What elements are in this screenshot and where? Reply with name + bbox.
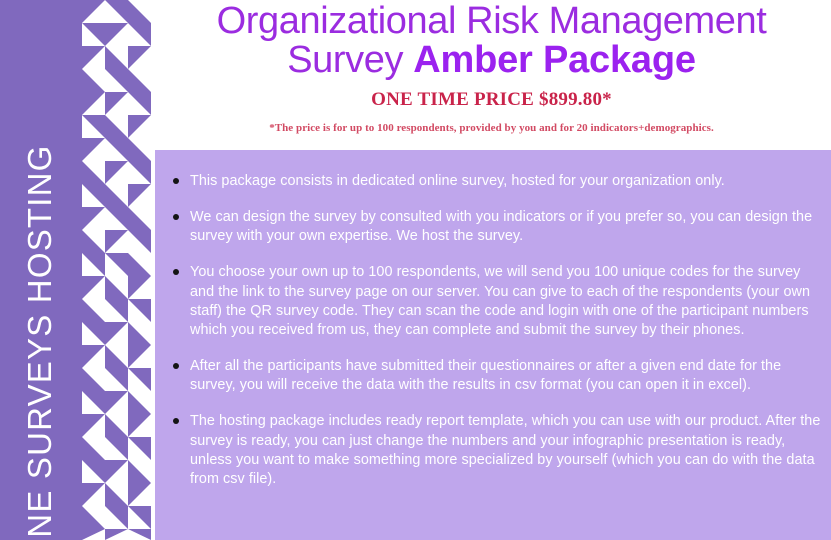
list-item-text: You choose your own up to 100 respondent…	[190, 264, 810, 337]
bullet-dot-icon	[173, 418, 179, 424]
page-title-package-name: Amber Package	[413, 39, 696, 81]
bullet-dot-icon	[173, 214, 179, 220]
bullet-dot-icon	[173, 269, 179, 275]
mosaic-triangles	[82, 0, 151, 540]
list-item: You choose your own up to 100 respondent…	[167, 263, 823, 340]
page-title-line1: Organizational Risk Management	[217, 0, 767, 42]
triangle-mosaic-pattern	[82, 0, 152, 540]
list-item-text: We can design the survey by consulted wi…	[190, 209, 812, 244]
list-item-text: The hosting package includes ready repor…	[190, 413, 820, 486]
page-title-line2-plain: Survey	[287, 39, 413, 81]
list-item: After all the participants have submitte…	[167, 357, 823, 395]
list-item: This package consists in dedicated onlin…	[167, 172, 823, 191]
bullet-dot-icon	[173, 178, 179, 184]
price-footnote: *The price is for up to 100 respondents,…	[152, 122, 831, 134]
page-title: Organizational Risk Management Survey Am…	[152, 0, 831, 80]
content-panel: This package consists in dedicated onlin…	[155, 150, 831, 540]
list-item-text: This package consists in dedicated onlin…	[190, 173, 725, 189]
feature-bullet-list: This package consists in dedicated onlin…	[167, 172, 823, 489]
poster-root: ONLINE SURVEYS HOSTING	[0, 0, 831, 540]
sidebar-vertical-label-text: ONLINE SURVEYS HOSTING	[21, 144, 59, 540]
list-item: We can design the survey by consulted wi…	[167, 208, 823, 246]
header: Organizational Risk Management Survey Am…	[152, 0, 831, 150]
price-label: ONE TIME PRICE $899.80*	[152, 89, 831, 111]
list-item: The hosting package includes ready repor…	[167, 412, 823, 489]
list-item-text: After all the participants have submitte…	[190, 358, 781, 393]
bullet-dot-icon	[173, 363, 179, 369]
sidebar-vertical-label: ONLINE SURVEYS HOSTING	[0, 0, 82, 540]
